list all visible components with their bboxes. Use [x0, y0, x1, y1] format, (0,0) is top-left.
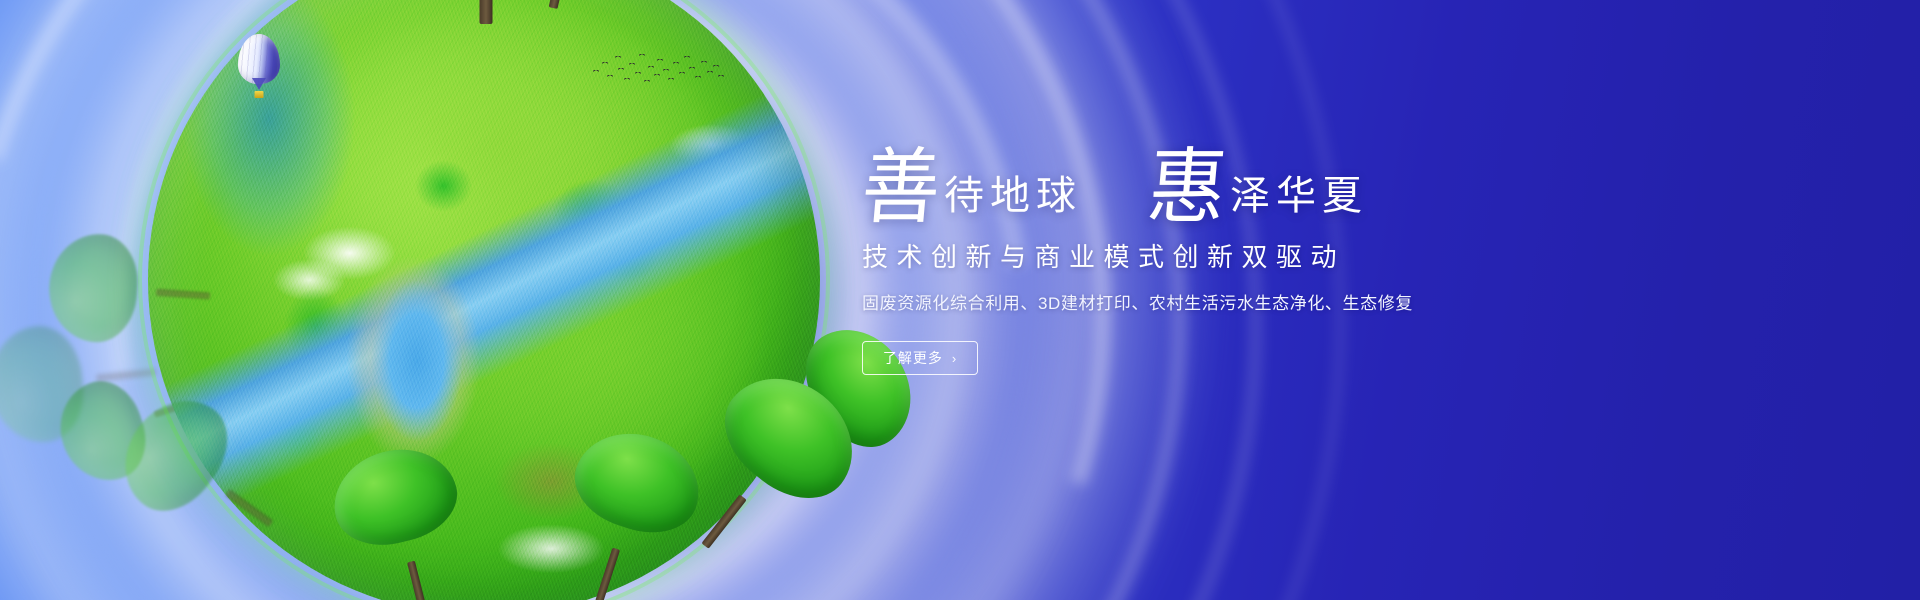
- chevron-right-icon: ›: [952, 352, 957, 365]
- subtitle: 技术创新与商业模式创新双驱动: [862, 242, 1622, 273]
- description: 固废资源化综合利用、3D建材打印、农村生活污水生态净化、生态修复: [862, 293, 1622, 315]
- balloon-basket: [255, 91, 264, 98]
- headline-rest-1: 待地球: [944, 176, 1082, 216]
- headline-brush-char-1: 善: [859, 150, 948, 226]
- learn-more-label: 了解更多: [883, 348, 943, 368]
- bird-flock-icon: [592, 50, 722, 90]
- tree-icon: [22, 312, 162, 445]
- learn-more-button[interactable]: 了解更多 ›: [862, 341, 978, 375]
- headline: 善 待地球 惠 泽华夏: [862, 132, 1622, 224]
- headline-brush-char-2: 惠: [1145, 150, 1234, 226]
- balloon-ribs: [238, 34, 280, 84]
- balloon-taper: [252, 78, 266, 90]
- hero-banner: 善 待地球 惠 泽华夏 技术创新与商业模式创新双驱动 固废资源化综合利用、3D建…: [0, 0, 1920, 600]
- balloon-envelope: [238, 34, 280, 84]
- headline-rest-2: 泽华夏: [1230, 176, 1368, 216]
- hot-air-balloon-icon: [238, 34, 280, 100]
- hero-copy-block: 善 待地球 惠 泽华夏 技术创新与商业模式创新双驱动 固废资源化综合利用、3D建…: [862, 132, 1622, 375]
